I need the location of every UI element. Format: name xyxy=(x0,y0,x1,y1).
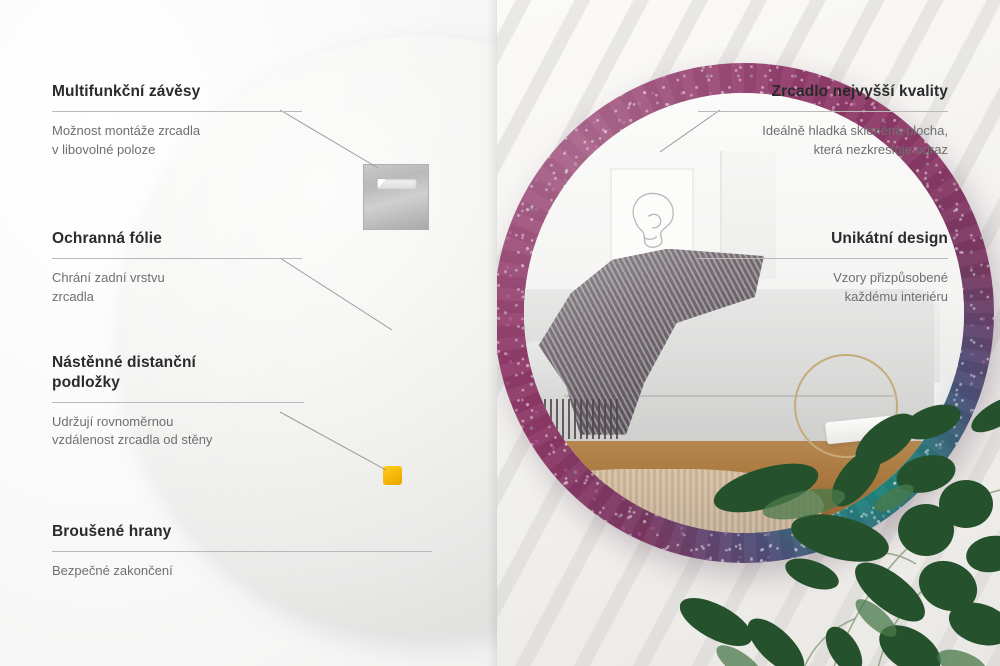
callout-body-line-2: zrcadla xyxy=(52,288,302,307)
callout-rule xyxy=(52,258,302,259)
callout-title: Broušené hrany xyxy=(52,522,302,542)
callout-brousene-hrany: Broušené hrany Bezpečné zakončení xyxy=(52,522,302,581)
callout-body-line-1: Bezpečné zakončení xyxy=(52,562,302,581)
callout-rule xyxy=(52,111,302,112)
callout-body-line-1: Vzory přizpůsobené xyxy=(698,269,948,288)
callout-title: Multifunkční závěsy xyxy=(52,82,302,102)
callout-title: Ochranná fólie xyxy=(52,229,302,249)
callout-rule xyxy=(698,258,948,259)
callout-body-line-1: Udržují rovnoměrnou xyxy=(52,413,304,432)
reflected-throw-fringe xyxy=(538,399,622,439)
callout-nastenne-distancni-podlozky: Nástěnné distanční podložky Udržují rovn… xyxy=(52,353,304,450)
callout-title-line-2: podložky xyxy=(52,373,304,393)
callout-title: Unikátní design xyxy=(698,229,948,249)
callout-body-line-1: Ideálně hladká skleněná plocha, xyxy=(698,122,948,141)
callout-ochranna-folie: Ochranná fólie Chrání zadní vrstvu zrcad… xyxy=(52,229,302,306)
hanger-keyhole-slot xyxy=(377,178,417,189)
callout-unikatni-design: Unikátní design Vzory přizpůsobené každé… xyxy=(698,229,948,306)
callout-body-line-2: která nezkresluje odraz xyxy=(698,141,948,160)
callout-body-line-1: Chrání zadní vrstvu xyxy=(52,269,302,288)
callout-rule xyxy=(52,551,432,552)
hanger-bracket-icon xyxy=(363,164,429,230)
wall-spacer-pad-icon xyxy=(383,466,402,485)
callout-body-line-1: Možnost montáže zrcadla xyxy=(52,122,302,141)
callout-rule xyxy=(698,111,948,112)
infographic-stage: Multifunkční závěsy Možnost montáže zrca… xyxy=(0,0,1000,666)
callout-title-line-1: Nástěnné distanční xyxy=(52,353,304,373)
callout-body-line-2: každému interiéru xyxy=(698,288,948,307)
callout-rule xyxy=(52,402,304,403)
callout-title: Zrcadlo nejvyšší kvality xyxy=(698,82,948,102)
callout-zrcadlo-nejvyssi-kvality: Zrcadlo nejvyšší kvality Ideálně hladká … xyxy=(698,82,948,159)
foreground-leaves xyxy=(680,378,1000,666)
callout-multifunkcni-zavesy: Multifunkční závěsy Možnost montáže zrca… xyxy=(52,82,302,159)
callout-body-line-2: v libovolné poloze xyxy=(52,141,302,160)
callout-body-line-2: vzdálenost zrcadla od stěny xyxy=(52,431,304,450)
